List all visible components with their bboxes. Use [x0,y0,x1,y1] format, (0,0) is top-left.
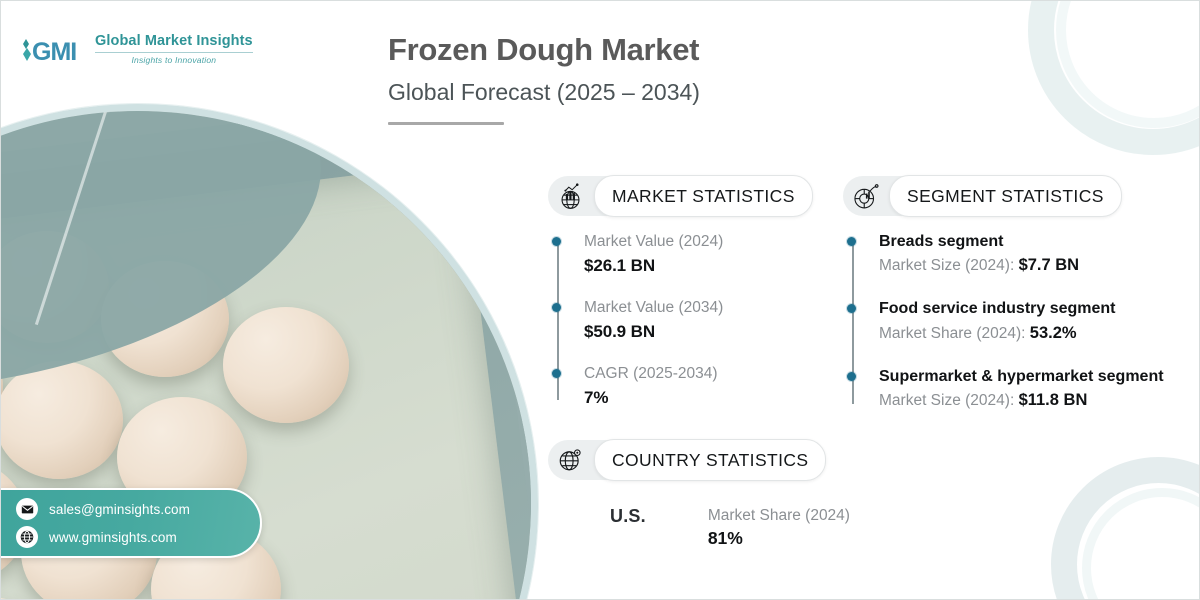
segment-metric-breads: Market Size (2024): $7.7 BN [879,254,1164,277]
segment-metric-value: 53.2% [1030,324,1077,342]
segment-metric-supermarket: Market Size (2024): $11.8 BN [879,389,1164,412]
dough-ball [223,307,349,423]
segment-statistics-badge[interactable]: SEGMENT STATISTICS [843,176,1122,216]
globe-bar-chart-icon [548,176,592,216]
segment-metric-label: Market Size (2024): [879,392,1019,409]
header: Frozen Dough Market Global Forecast (202… [388,32,1028,125]
gmi-logo-divider [95,52,253,53]
country-statistics-label: COUNTRY STATISTICS [612,450,808,471]
market-statistics-panel: MARKET STATISTICS Market Value (2024) $2… [548,176,813,408]
market-value-2034-value: $50.9 BN [584,322,813,342]
segment-name-food-service: Food service industry segment [879,299,1164,319]
cagr-value: 7% [584,388,813,408]
market-value-2034-label: Market Value (2034) [584,298,813,319]
gmi-logo-title: Global Market Insights [95,34,253,49]
header-divider [388,122,504,125]
segment-metric-label: Market Size (2024): [879,257,1019,274]
country-statistics-row: U.S. Market Share (2024) 81% [548,506,850,549]
market-value-2024-label: Market Value (2024) [584,232,813,253]
contact-website-row[interactable]: www.gminsights.com [16,526,260,548]
segment-name-supermarket: Supermarket & hypermarket segment [879,367,1164,387]
envelope-icon [16,498,38,520]
segment-statistics-label: SEGMENT STATISTICS [907,186,1104,207]
list-item: Market Value (2034) $50.9 BN [584,298,813,342]
timeline-dot [847,304,856,313]
contact-email-row[interactable]: sales@gminsights.com [16,498,260,520]
country-statistics-panel: COUNTRY STATISTICS U.S. Market Share (20… [548,440,850,549]
dough-ball [0,361,123,479]
gmi-logo-tagline: Insights to Innovation [95,56,253,65]
timeline-dot [552,303,561,312]
market-statistics-pill: MARKET STATISTICS [594,175,813,217]
country-name: U.S. [610,506,646,527]
page-title: Frozen Dough Market [388,32,1028,69]
list-item: Food service industry segment Market Sha… [879,299,1164,344]
segment-metric-label: Market Share (2024): [879,325,1030,342]
segment-statistics-pill: SEGMENT STATISTICS [889,175,1122,217]
gmi-logo-text: Global Market Insights Insights to Innov… [95,34,253,64]
market-statistics-label: MARKET STATISTICS [612,186,795,207]
timeline-dot [847,372,856,381]
gmi-logo[interactable]: GMI Global Market Insights Insights to I… [20,34,253,64]
timeline-dot [552,369,561,378]
list-item: Supermarket & hypermarket segment Market… [879,367,1164,412]
globe-pin-icon [548,440,592,480]
country-statistics-pill: COUNTRY STATISTICS [594,439,826,481]
infographic-canvas: GMI Global Market Insights Insights to I… [0,0,1200,600]
timeline-dot [552,237,561,246]
contact-block: sales@gminsights.com www.gminsights.com [0,488,262,558]
country-metric-label: Market Share (2024) [708,506,850,526]
segment-statistics-panel: SEGMENT STATISTICS Breads segment Market… [843,176,1164,412]
segment-metric-value: $7.7 BN [1019,256,1080,274]
cagr-label: CAGR (2025-2034) [584,364,813,385]
country-statistics-badge[interactable]: COUNTRY STATISTICS [548,440,826,480]
segment-statistics-timeline: Breads segment Market Size (2024): $7.7 … [843,232,1164,412]
contact-website: www.gminsights.com [49,530,177,545]
country-metric-value: 81% [708,528,850,549]
list-item: Breads segment Market Size (2024): $7.7 … [879,232,1164,277]
market-value-2024-value: $26.1 BN [584,256,813,276]
svg-text:GMI: GMI [32,38,76,63]
list-item: CAGR (2025-2034) 7% [584,364,813,408]
segment-metric-food-service: Market Share (2024): 53.2% [879,322,1164,345]
list-item: Market Value (2024) $26.1 BN [584,232,813,276]
segment-metric-value: $11.8 BN [1019,391,1088,409]
globe-icon [16,526,38,548]
market-statistics-timeline: Market Value (2024) $26.1 BN Market Valu… [548,232,813,408]
timeline-dot [847,237,856,246]
page-subtitle: Global Forecast (2025 – 2034) [388,79,1028,107]
segment-name-breads: Breads segment [879,232,1164,252]
contact-email: sales@gminsights.com [49,502,190,517]
pie-chart-target-icon [843,176,887,216]
country-metric: Market Share (2024) 81% [708,506,850,549]
market-statistics-badge[interactable]: MARKET STATISTICS [548,176,813,216]
gmi-diamond-logo-icon: GMI [20,35,86,63]
